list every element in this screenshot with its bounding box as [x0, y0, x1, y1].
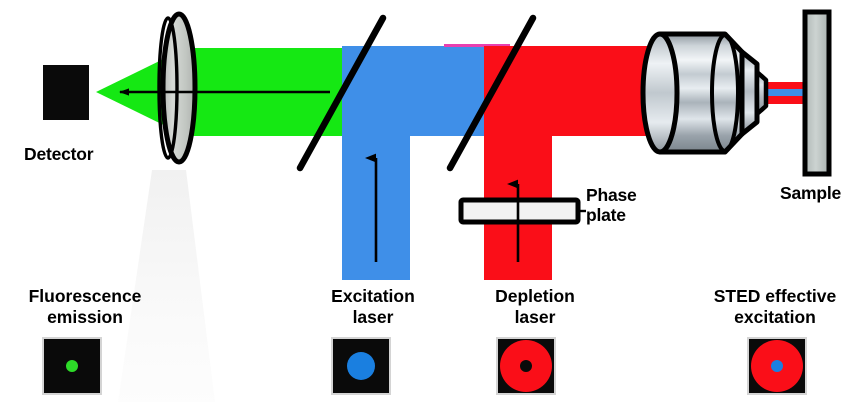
inset-sted-effective-excitation [748, 338, 806, 394]
inset-fluorescence-emission [43, 338, 101, 394]
phase-plate [461, 200, 578, 222]
collection-lens [159, 14, 195, 162]
detector-label: Detector [24, 145, 93, 165]
caption-fluorescence-emission: Fluorescence emission [0, 286, 170, 327]
sample-label: Sample [780, 184, 841, 204]
sted-schematic-figure: Detector Sample Phase plate Fluorescence… [0, 0, 850, 402]
excitation-laser-beam-elbow [342, 46, 410, 136]
inset-excitation-laser [332, 338, 390, 394]
caption-depletion-laser: Depletion laser [450, 286, 620, 327]
sted-diagram-canvas [0, 0, 850, 402]
inset-depletion-laser [497, 338, 555, 394]
sample-slide [805, 12, 829, 174]
objective-lens [643, 34, 766, 152]
caption-sted-effective-excitation: STED effective excitation [690, 286, 850, 327]
caption-excitation-laser: Excitation laser [288, 286, 458, 327]
phase-plate-label: Phase plate [586, 186, 637, 225]
detector-block [43, 65, 89, 120]
